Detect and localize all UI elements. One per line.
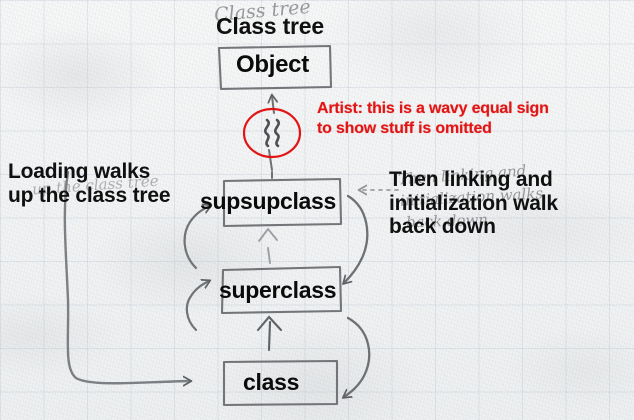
box-label-supsupclass: supsupclass [200, 188, 336, 215]
box-label-class: class [243, 369, 299, 396]
annotation-loading-walks: Loading walks up the class tree [8, 160, 170, 207]
box-label-object: Object [236, 51, 309, 79]
diagram-canvas: Class tree up the class tree Then linkin… [0, 0, 634, 420]
artist-note: Artist: this is a wavy equal sign to sho… [317, 99, 549, 139]
page-title: Class tree [216, 14, 324, 40]
annotation-linking-initialization: Then linking and initialization walk bac… [389, 168, 558, 239]
box-label-superclass: superclass [219, 277, 336, 304]
